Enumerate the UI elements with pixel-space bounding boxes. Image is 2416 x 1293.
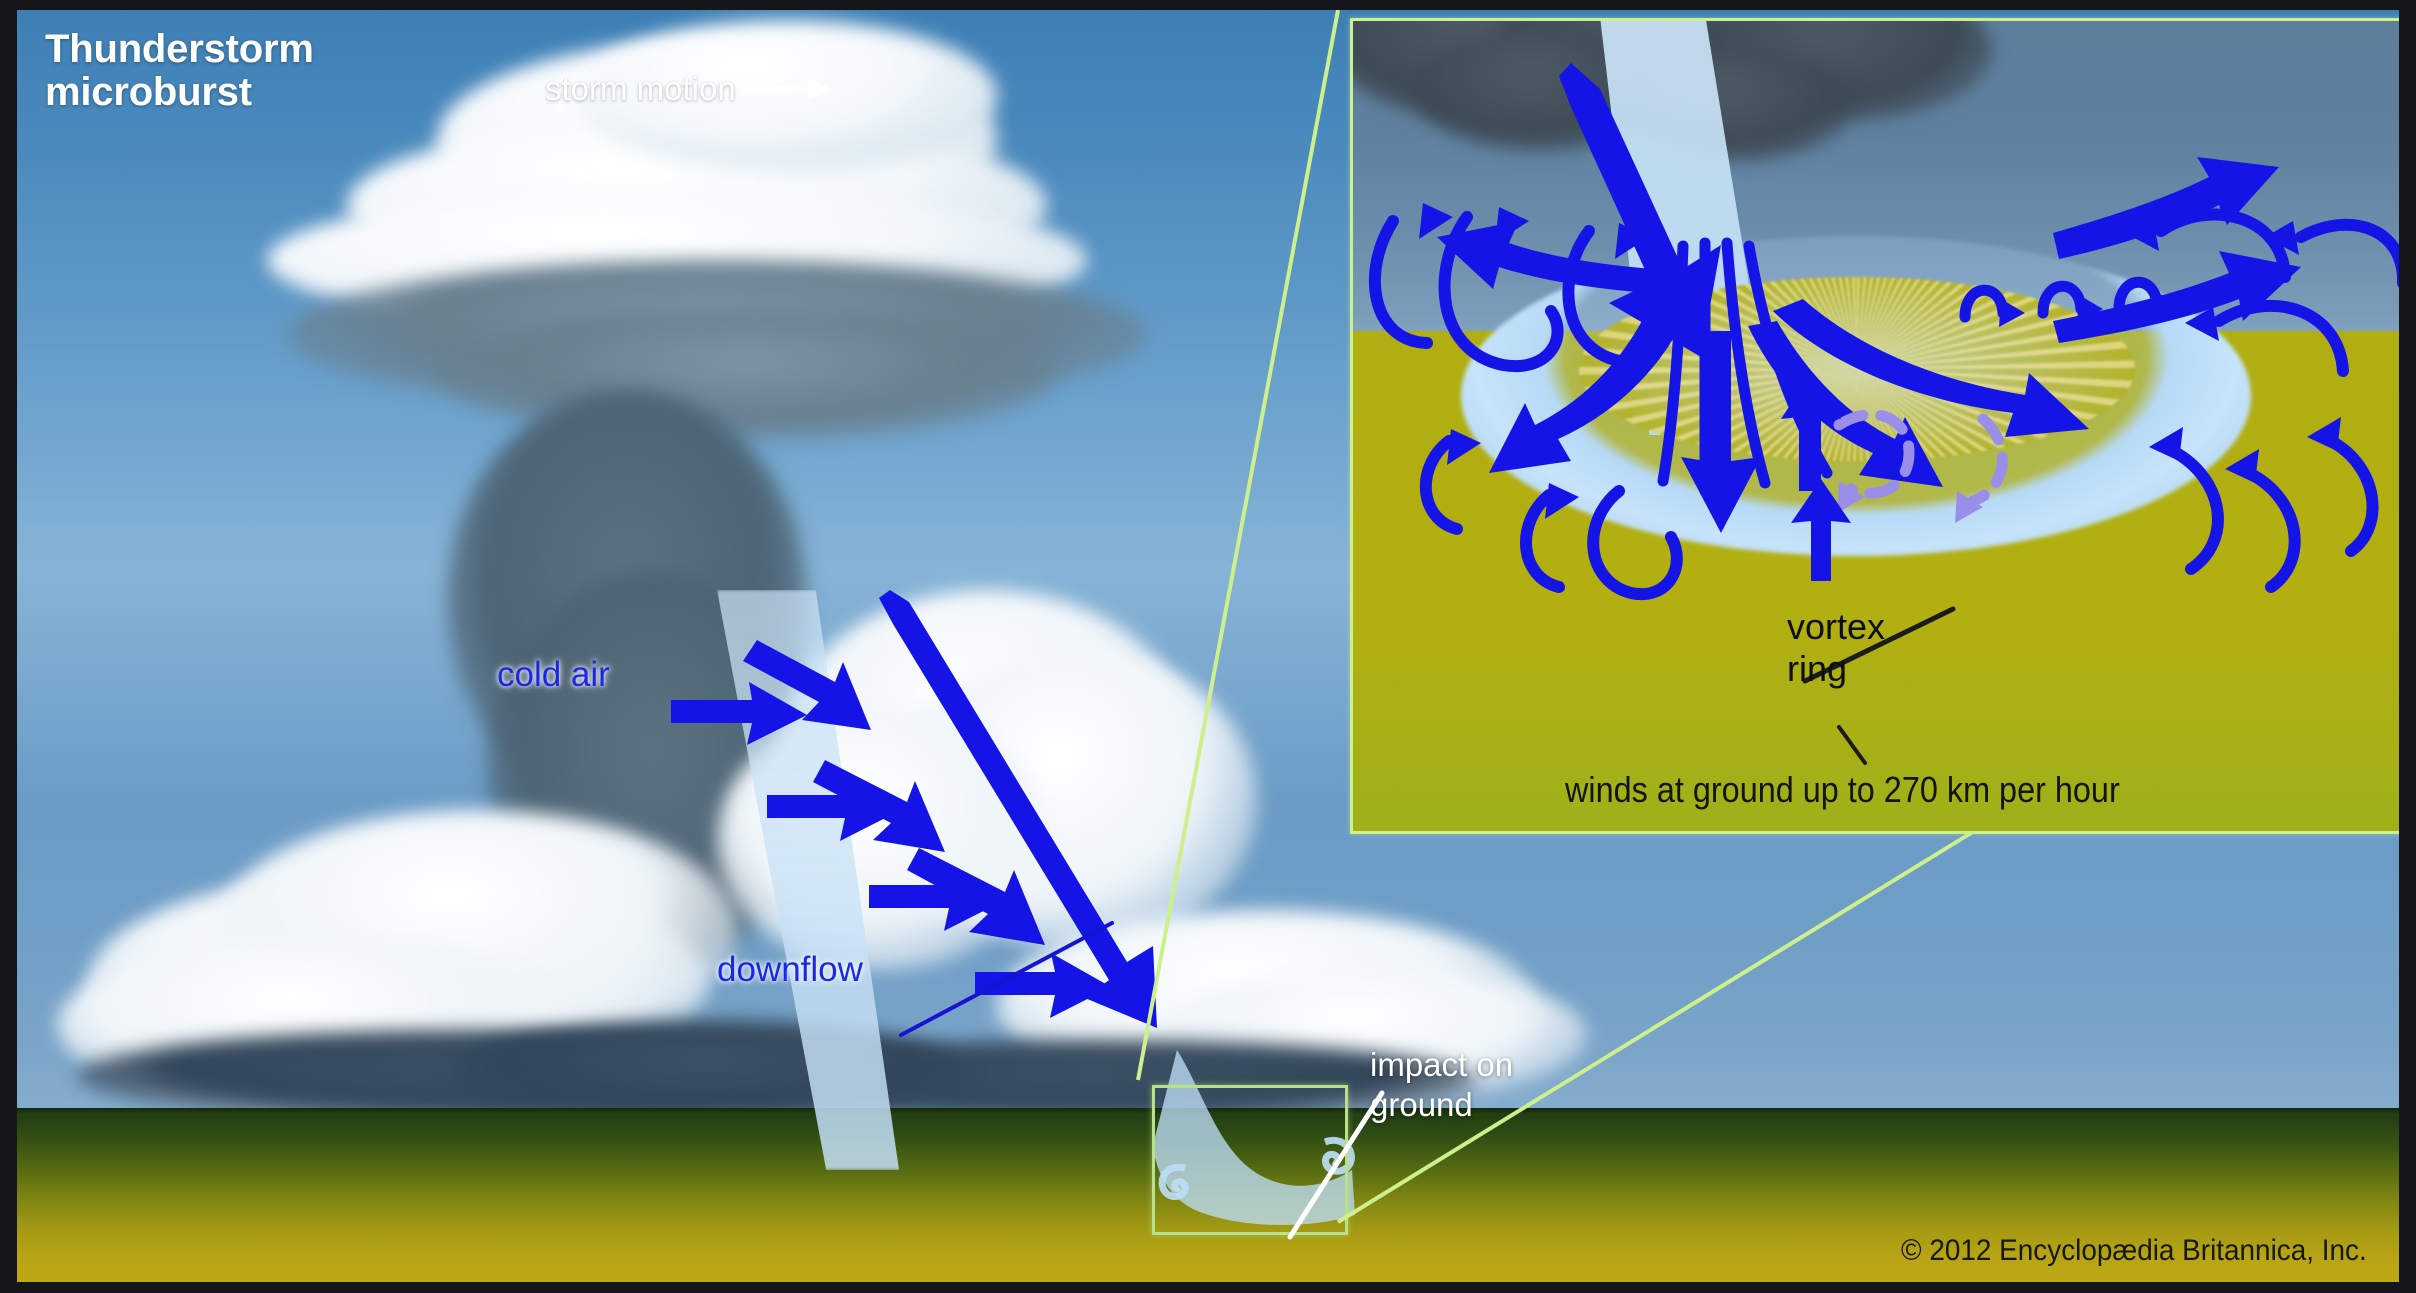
cold-air-label: cold air xyxy=(497,655,610,695)
winds-at-ground-label: winds at ground up to 270 km per hour xyxy=(1565,769,2120,811)
impact-line-1: impact on xyxy=(1370,1045,1513,1085)
right-arrow-icon xyxy=(742,76,832,102)
downflow-leader-line xyxy=(897,915,1157,1045)
outflow-arrow-far-right-upper xyxy=(2053,157,2279,259)
inset-flow-arrows xyxy=(1353,21,2399,834)
downflow-label: downflow xyxy=(717,950,863,990)
main-scene: Thunderstorm microburst storm motion col… xyxy=(17,10,2399,1282)
impact-leader-line xyxy=(1282,1085,1392,1245)
vortex-ring-line-2: ring xyxy=(1787,648,1885,690)
vortex-ring-label: vortex ring xyxy=(1787,606,1885,691)
outflow-arrow-far-right xyxy=(2053,251,2301,343)
storm-motion-label: storm motion xyxy=(545,70,832,108)
large-descending-arrow xyxy=(1559,63,1721,357)
title-line-1: Thunderstorm xyxy=(45,28,314,71)
storm-motion-text: storm motion xyxy=(545,70,736,108)
copyright-notice: © 2012 Encyclopædia Britannica, Inc. xyxy=(1901,1234,2367,1268)
cold-air-arrow xyxy=(671,682,807,745)
diagram-canvas: Thunderstorm microburst storm motion col… xyxy=(0,0,2416,1293)
inset-panel: winds at ground up to 270 km per hour xyxy=(1350,18,2399,834)
cloud-shadow xyxy=(437,310,1057,440)
winds-leader-line xyxy=(1839,727,1865,763)
vortex-ring-line-1: vortex xyxy=(1787,606,1885,648)
title-line-2: microburst xyxy=(45,71,314,114)
page-title: Thunderstorm microburst xyxy=(45,28,314,114)
